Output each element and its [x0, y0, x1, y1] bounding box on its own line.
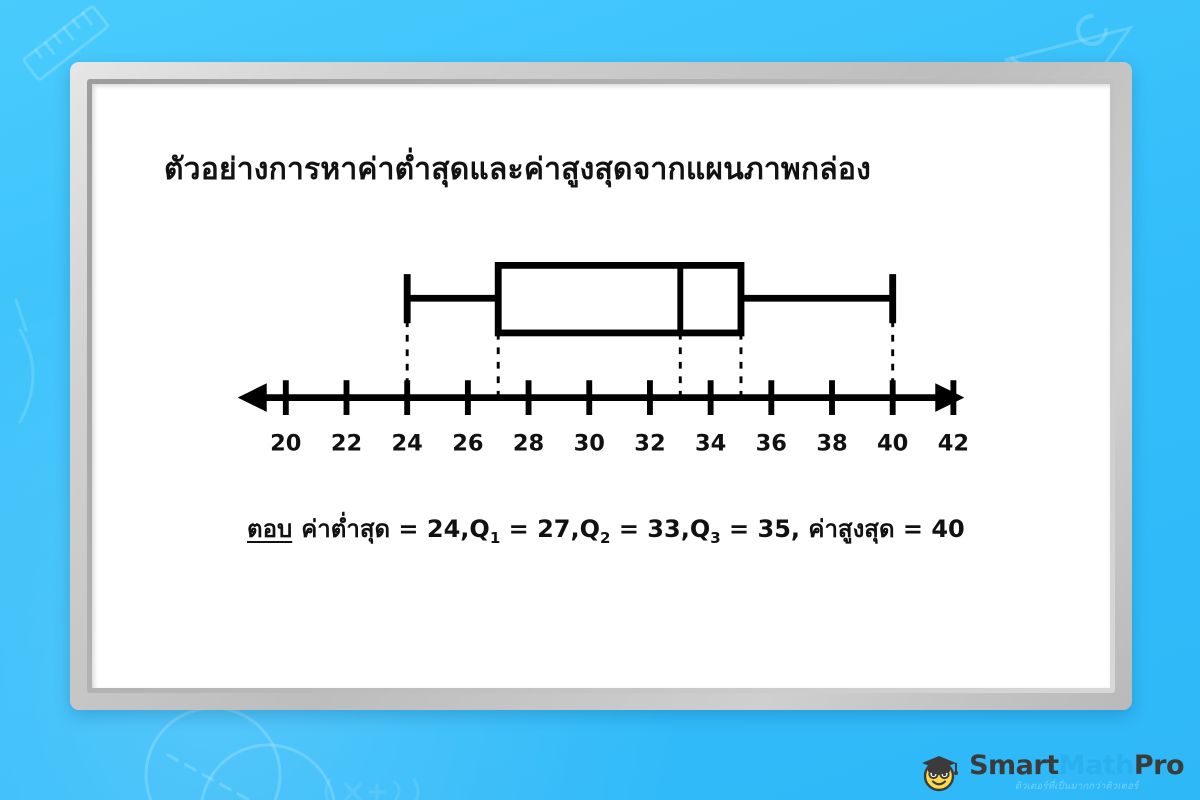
- logo-wordmark: SmartMathPro ติวเตอร์ที่เป็นมากกว่าติวเต…: [969, 752, 1184, 792]
- logo-tagline: ติวเตอร์ที่เป็นมากกว่าติวเตอร์: [969, 782, 1184, 792]
- tick-label-40: 40: [877, 431, 908, 457]
- answer-min-value: 24: [427, 515, 460, 543]
- tick-label-28: 28: [513, 431, 544, 457]
- answer-q2-sub: 2: [600, 529, 610, 547]
- logo-pro-text: Pro: [1134, 750, 1184, 781]
- axis-arrow-right: [936, 384, 963, 411]
- answer-eq-5: =: [903, 515, 923, 543]
- logo-math-text: Math: [1059, 750, 1134, 781]
- logo-smart-text: Smart: [969, 750, 1059, 781]
- answer-q1-value: 27: [537, 515, 570, 543]
- answer-q2-label: Q: [580, 515, 600, 543]
- answer-q1-label: Q: [469, 515, 489, 543]
- whiteboard-surface: ตัวอย่างการหาค่าต่ำสุดและค่าสูงสุดจากแผน…: [92, 84, 1110, 688]
- answer-comma-4: ,: [791, 515, 800, 543]
- answer-q3-label: Q: [690, 515, 710, 543]
- tick-label-20: 20: [270, 431, 301, 457]
- tick-label-26: 26: [452, 431, 483, 457]
- tick-label-32: 32: [634, 431, 665, 457]
- tick-label-30: 30: [574, 431, 605, 457]
- tick-label-22: 22: [331, 431, 362, 457]
- tick-label-34: 34: [695, 431, 726, 457]
- smartmathpro-logo: SmartMathPro ติวเตอร์ที่เป็นมากกว่าติวเต…: [916, 750, 1184, 794]
- answer-max-label: ค่าสูงสุด: [808, 515, 894, 543]
- box-body: [498, 265, 741, 333]
- answer-eq-2: =: [509, 515, 529, 543]
- answer-q1-sub: 1: [490, 529, 500, 547]
- answer-label: ตอบ: [247, 509, 292, 548]
- answer-q2-value: 33: [647, 515, 680, 543]
- whiteboard-frame: ตัวอย่างการหาค่าต่ำสุดและค่าสูงสุดจากแผน…: [70, 62, 1132, 710]
- answer-eq-4: =: [729, 515, 749, 543]
- axis-tick-labels: 20 22 24 26 28 30 32 34 36 38 40 42: [270, 431, 969, 457]
- answer-comma-2: ,: [571, 515, 580, 543]
- tick-label-38: 38: [816, 431, 847, 457]
- logo-title: SmartMathPro: [969, 752, 1184, 779]
- axis-arrow-left: [239, 384, 266, 411]
- tick-label-42: 42: [938, 431, 969, 457]
- box-plot-chart: 20 22 24 26 28 30 32 34 36 38 40 42: [92, 84, 1110, 688]
- answer-comma-3: ,: [681, 515, 690, 543]
- answer-q3-sub: 3: [710, 529, 720, 547]
- answer-expression: ค่าต่ำสุด = 24,Q1 = 27,Q2 = 33,Q3 = 35, …: [301, 509, 965, 548]
- whiteboard-bevel: ตัวอย่างการหาค่าต่ำสุดและค่าสูงสุดจากแผน…: [87, 79, 1115, 693]
- number-line-axis: [239, 380, 963, 415]
- answer-line: ตอบ ค่าต่ำสุด = 24,Q1 = 27,Q2 = 33,Q3 = …: [247, 509, 965, 548]
- answer-q3-value: 35: [758, 515, 791, 543]
- answer-min-label: ค่าต่ำสุด: [301, 515, 390, 543]
- graduate-smiley-icon: [916, 750, 962, 794]
- tick-label-36: 36: [756, 431, 787, 457]
- answer-max-value: 40: [931, 515, 964, 543]
- tick-label-24: 24: [392, 431, 423, 457]
- answer-eq-1: =: [398, 515, 418, 543]
- answer-eq-3: =: [619, 515, 639, 543]
